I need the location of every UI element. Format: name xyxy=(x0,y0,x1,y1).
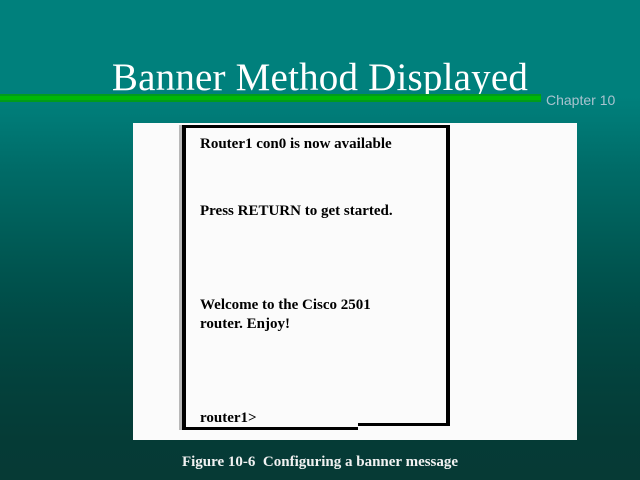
divider-stripe-bottom xyxy=(0,100,541,102)
terminal-line: Press RETURN to get started. xyxy=(200,202,438,221)
terminal-prompt: router1> xyxy=(200,409,438,428)
terminal-border-top xyxy=(182,125,450,128)
figure-caption: Figure 10-6 Configuring a banner message xyxy=(0,453,640,472)
terminal-window-box: Router1 con0 is now available Press RETU… xyxy=(182,125,450,434)
terminal-line: router. Enjoy! xyxy=(200,315,438,334)
terminal-line: Router1 con0 is now available xyxy=(200,135,438,154)
terminal-border-right xyxy=(446,125,450,426)
green-divider-bar xyxy=(0,94,541,104)
chapter-label: Chapter 10 xyxy=(546,92,615,109)
figure-panel: Router1 con0 is now available Press RETU… xyxy=(133,123,577,440)
terminal-output: Router1 con0 is now available Press RETU… xyxy=(200,135,438,428)
terminal-line: Welcome to the Cisco 2501 xyxy=(200,296,438,315)
terminal-border-left xyxy=(182,125,186,430)
slide-canvas: Banner Method Displayed Chapter 10 Route… xyxy=(0,0,640,480)
